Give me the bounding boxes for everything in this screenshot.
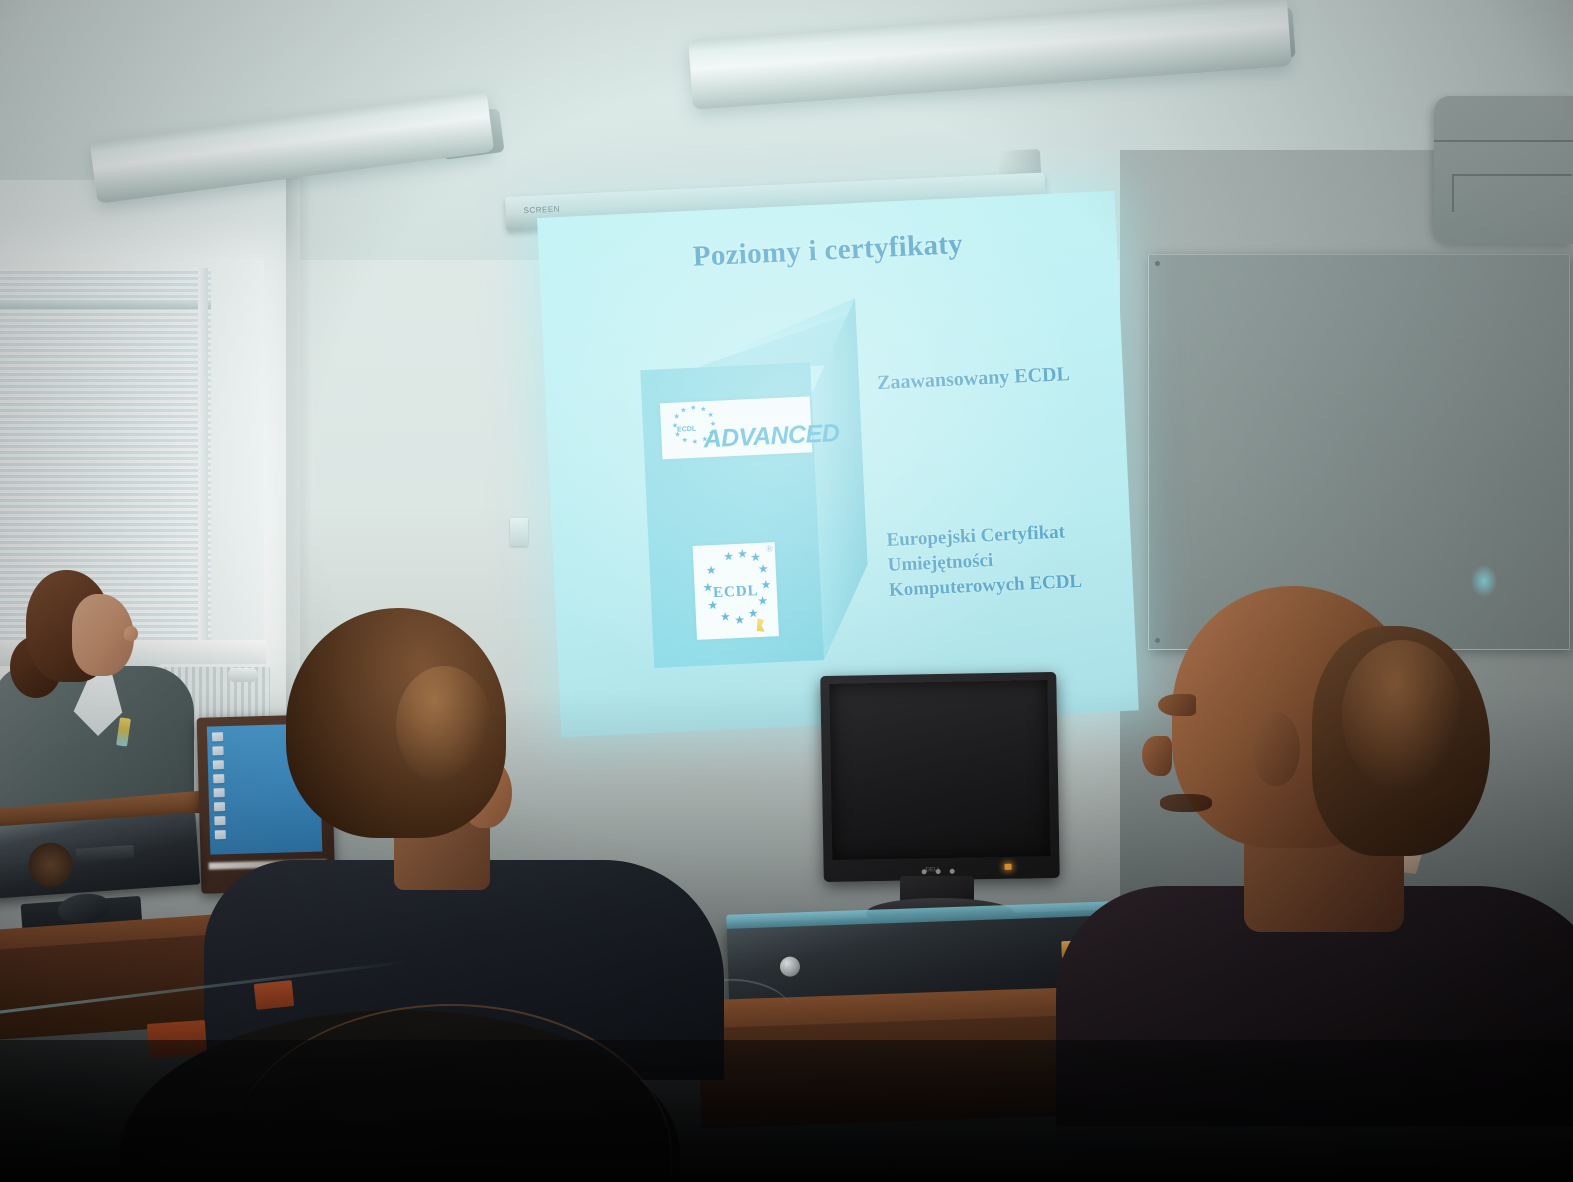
- screen-case-label: SCREEN: [523, 205, 560, 216]
- desk-label-tag: [254, 980, 295, 1010]
- slide-label-advanced: Zaawansowany ECDL: [877, 363, 1071, 395]
- pc-left-speaker-grille: [27, 841, 74, 888]
- person-woman-left: [0, 570, 210, 830]
- man-right-hair-highlight: [1342, 640, 1462, 790]
- monitor-right[interactable]: DELL: [820, 672, 1060, 882]
- foreground-shadow: [0, 1040, 1573, 1182]
- man-center-hair-highlight: [396, 666, 492, 784]
- person-man-center: [246, 608, 716, 1068]
- air-conditioner-unit: [1434, 96, 1573, 244]
- wall-light-switch[interactable]: [510, 518, 528, 546]
- man-right-ear: [1254, 712, 1300, 786]
- monitor-right-power-led: [1005, 864, 1012, 870]
- man-right-brow: [1158, 694, 1196, 716]
- pc-left-optical-drive[interactable]: [75, 845, 134, 862]
- cube-top-face: [637, 298, 858, 374]
- blinds-headrail: [0, 300, 211, 309]
- registered-mark-icon: ®: [766, 543, 773, 553]
- classroom-photo-scene: SCREEN Poziomy i certyfikaty ★ ★ ★ ★ ★ ★…: [0, 0, 1573, 1182]
- advanced-logo-inner-label: ECDL: [677, 426, 696, 434]
- man-right-nose: [1142, 736, 1172, 776]
- slide-title: Poziomy i certyfikaty: [538, 221, 1117, 281]
- person-man-right: [1136, 586, 1573, 1086]
- slide-label-ecdl: Europejski Certyfikat Umiejętności Kompu…: [886, 519, 1083, 603]
- ecdl-advanced-logo: ★ ★ ★ ★ ★ ★ ★ ★ ★ ★ ★ ★ ECDL ADVANCED: [660, 396, 812, 459]
- monitor-right-screen: [829, 680, 1050, 860]
- man-right-mouth: [1160, 794, 1212, 812]
- pc-right-power-button[interactable]: [780, 956, 801, 977]
- woman-nose: [124, 626, 138, 641]
